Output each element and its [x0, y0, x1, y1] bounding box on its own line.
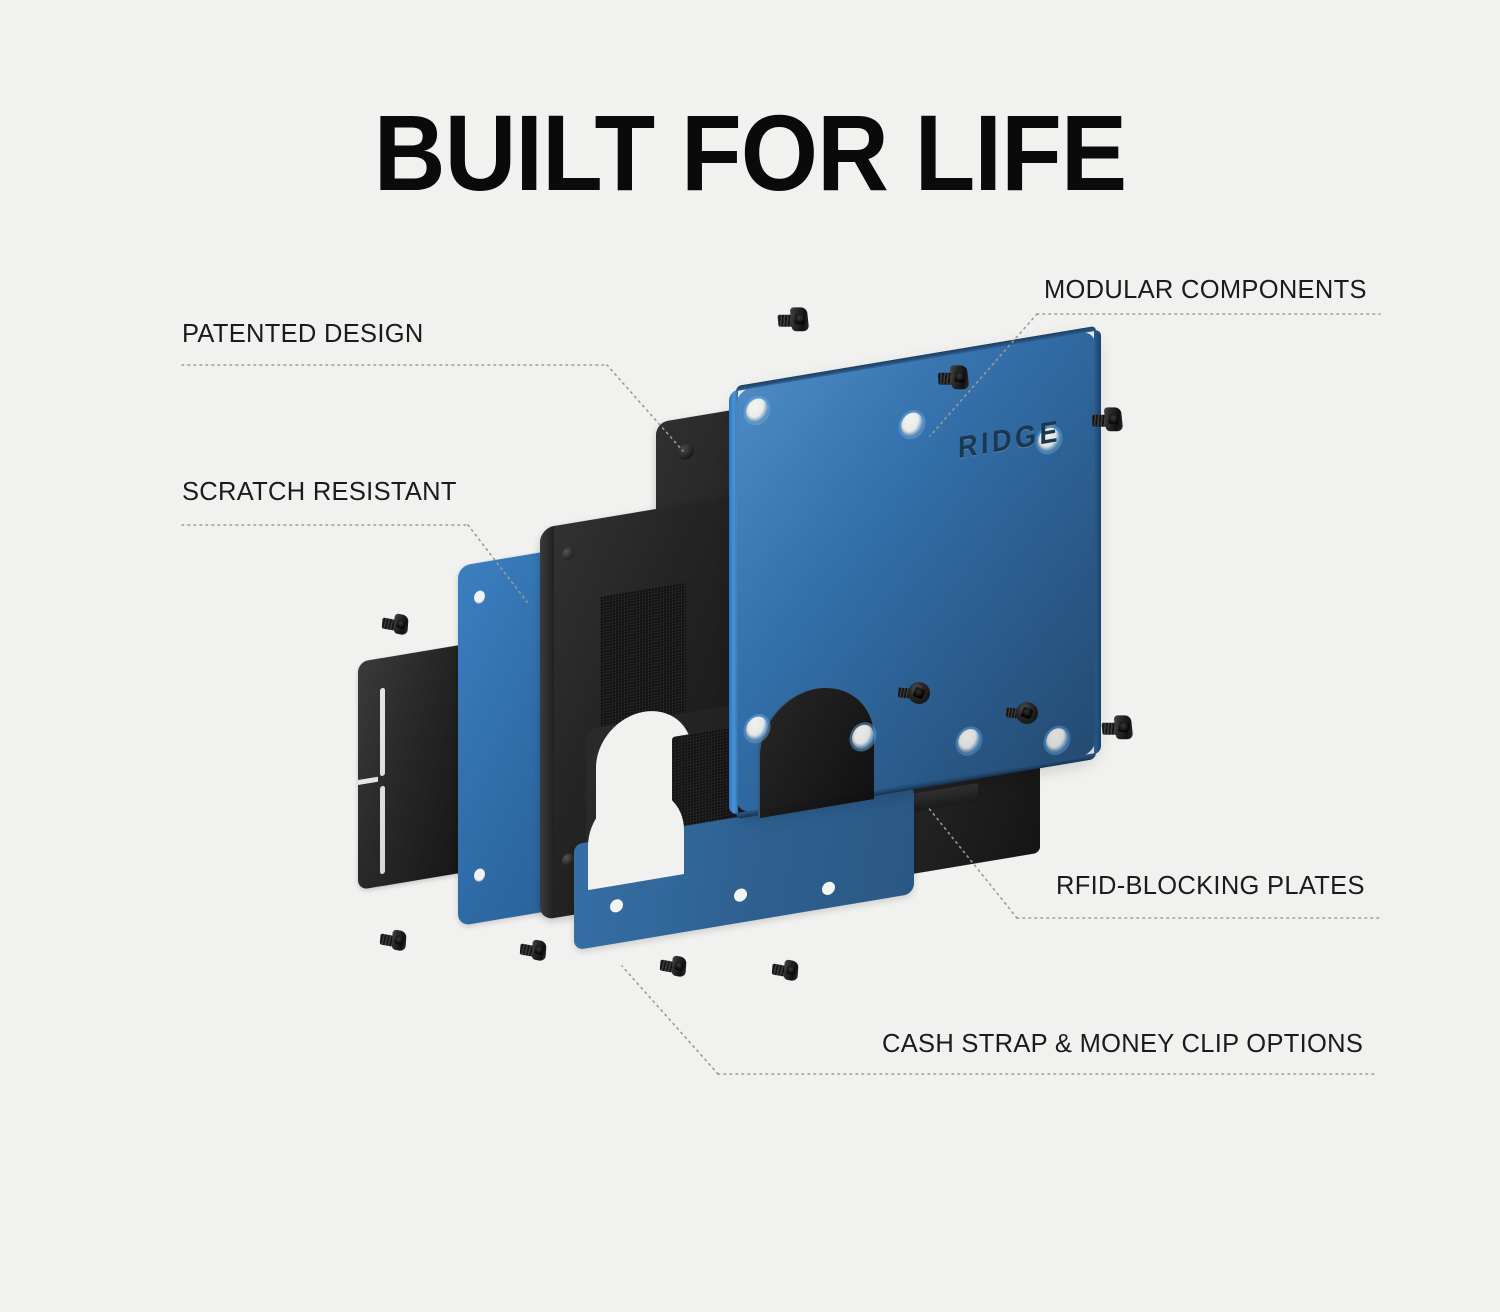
- screw-2: [937, 364, 969, 391]
- blue-front-plate-bevel-top: [736, 326, 1096, 391]
- blue-front-plate-hole-br: [1046, 727, 1068, 755]
- callout-label-rfid-blocking: RFID-BLOCKING PLATES: [1056, 872, 1365, 901]
- blue-front-plate-hole-tm: [901, 411, 923, 439]
- callout-label-scratch-resistant: SCRATCH RESISTANT: [182, 478, 457, 507]
- screw-10: [659, 955, 686, 979]
- screw-8: [379, 929, 406, 953]
- infographic-canvas: BUILT FOR LIFE: [0, 0, 1500, 1312]
- screw-3: [1091, 406, 1123, 433]
- blue-bottom-plate-hole-2: [734, 887, 747, 902]
- screw-7: [381, 613, 408, 637]
- screw-6: [1101, 714, 1133, 741]
- callout-label-patented-design: PATENTED DESIGN: [182, 320, 424, 349]
- screw-4: [898, 682, 930, 704]
- screw-11: [771, 959, 798, 983]
- blue-front-plate-bevel-left: [729, 390, 738, 816]
- blue-front-plate-hole-bm2: [958, 727, 980, 755]
- blue-front-plate-bevel-right: [1094, 329, 1101, 754]
- blue-back-plate-hole-top: [474, 590, 485, 605]
- callout-label-cash-strap: CASH STRAP & MONEY CLIP OPTIONS: [882, 1030, 1363, 1059]
- rfid-plate-rear-screw-hole: [678, 442, 694, 461]
- callout-label-modular-components: MODULAR COMPONENTS: [1044, 276, 1367, 305]
- ridge-brand-mark: RIDGE: [958, 414, 1061, 466]
- blue-bottom-plate-hole-1: [610, 898, 623, 913]
- blue-front-plate-arch-cutout: [758, 679, 874, 818]
- rfid-plate-front-screw-top: [562, 547, 574, 561]
- screw-5: [1006, 702, 1038, 724]
- rfid-plate-front-edge: [540, 526, 554, 920]
- exploded-product-illustration: RIDGE: [0, 0, 1500, 1312]
- blue-back-plate-hole-bottom: [474, 868, 485, 883]
- screw-9: [519, 939, 546, 963]
- blue-bottom-plate-hole-3: [822, 881, 835, 896]
- screw-1: [777, 306, 809, 333]
- component-blue-front-plate: RIDGE: [736, 330, 1096, 814]
- blue-front-plate-hole-tl: [746, 397, 768, 425]
- rfid-plate-front-screw-bottom: [562, 853, 574, 867]
